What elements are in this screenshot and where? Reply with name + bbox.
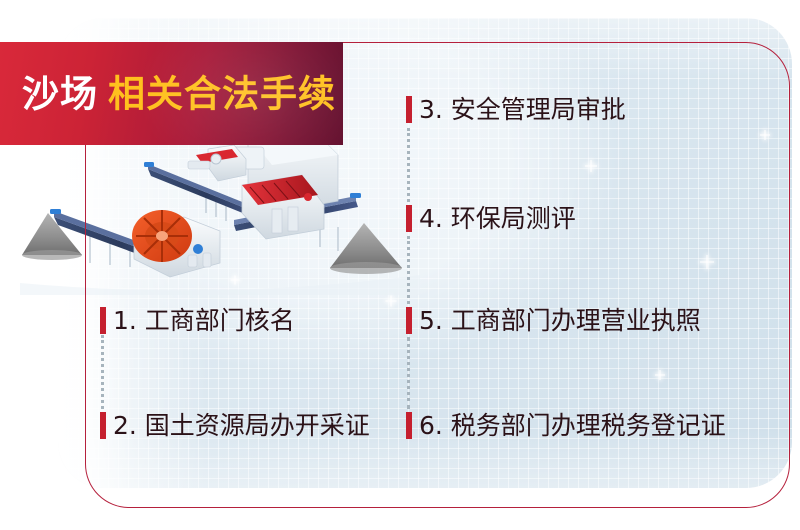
banner-title-primary: 沙场	[22, 73, 98, 114]
step-label-2: 2. 国土资源局办开采证	[113, 413, 370, 438]
step-item-4: 4. 环保局测评	[406, 205, 576, 232]
step-marker-bar	[406, 205, 412, 232]
step-marker-bar	[100, 307, 106, 334]
step-item-2: 2. 国土资源局办开采证	[100, 412, 370, 439]
step-item-3: 3. 安全管理局审批	[406, 96, 626, 123]
step-marker-bar	[100, 412, 106, 439]
step-label-6: 6. 税务部门办理税务登记证	[419, 413, 726, 438]
poster-canvas: 沙场相关合法手续 1. 工商部门核名 2. 国土资源局办开采证 3. 安全管理局…	[0, 0, 800, 530]
step-label-3: 3. 安全管理局审批	[419, 97, 626, 122]
step-marker-bar	[406, 412, 412, 439]
title-banner: 沙场相关合法手续	[0, 42, 343, 145]
step-marker-bar	[406, 307, 412, 334]
step-item-6: 6. 税务部门办理税务登记证	[406, 412, 726, 439]
step-label-4: 4. 环保局测评	[419, 206, 576, 231]
banner-title-secondary: 相关合法手续	[108, 73, 336, 114]
step-marker-bar	[406, 96, 412, 123]
step-label-5: 5. 工商部门办理营业执照	[419, 308, 701, 333]
banner-title: 沙场相关合法手续	[22, 75, 336, 112]
step-item-1: 1. 工商部门核名	[100, 307, 295, 334]
step-label-1: 1. 工商部门核名	[113, 308, 295, 333]
step-item-5: 5. 工商部门办理营业执照	[406, 307, 701, 334]
